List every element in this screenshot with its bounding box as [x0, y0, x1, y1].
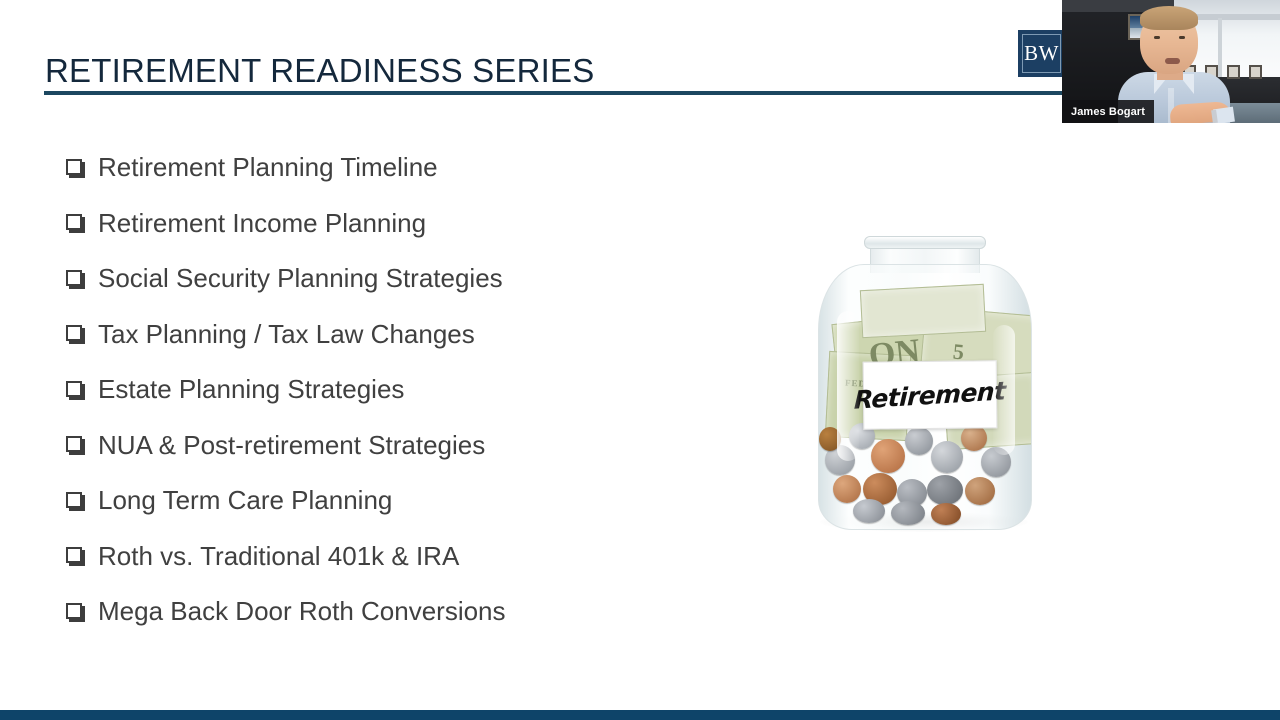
checkbox-icon [66, 547, 85, 566]
list-item: NUA & Post-retirement Strategies [66, 418, 766, 474]
jar-contents: ON 5 FEDERAL U.S. [819, 265, 1031, 529]
page-title: RETIREMENT READINESS SERIES [45, 52, 594, 90]
retirement-money-jar-image: ON 5 FEDERAL U.S. [812, 236, 1036, 528]
presenter-hair [1140, 6, 1198, 30]
desk-picture-frame [1249, 65, 1262, 79]
topics-list: Retirement Planning Timeline Retirement … [66, 140, 766, 640]
checkbox-icon [66, 325, 85, 344]
jar-label-text: Retirement [854, 376, 1006, 415]
participant-name-label: James Bogart [1071, 106, 1145, 118]
jar-body: ON 5 FEDERAL U.S. [818, 264, 1032, 530]
footer-accent-bar [0, 710, 1280, 720]
list-item-label: Retirement Income Planning [98, 209, 426, 238]
checkbox-icon [66, 492, 85, 511]
checkbox-icon [66, 159, 85, 178]
list-item: Long Term Care Planning [66, 473, 766, 529]
desk-picture-frame [1227, 65, 1240, 79]
list-item: Tax Planning / Tax Law Changes [66, 307, 766, 363]
checkbox-icon [66, 436, 85, 455]
list-item: Mega Back Door Roth Conversions [66, 584, 766, 640]
jar-lip [864, 236, 986, 249]
presenter-eye-left [1154, 36, 1160, 39]
list-item-label: Long Term Care Planning [98, 486, 392, 515]
checkbox-icon [66, 381, 85, 400]
list-item-label: Tax Planning / Tax Law Changes [98, 320, 475, 349]
title-underline-rule [44, 91, 1062, 95]
list-item-label: Mega Back Door Roth Conversions [98, 597, 506, 626]
bw-logo: BW [1018, 30, 1065, 77]
list-item: Roth vs. Traditional 401k & IRA [66, 529, 766, 585]
webcam-video-overlay[interactable]: James Bogart [1062, 0, 1280, 123]
checkbox-icon [66, 270, 85, 289]
list-item: Retirement Income Planning [66, 196, 766, 252]
participant-name-tag: James Bogart [1062, 100, 1154, 123]
presentation-slide: RETIREMENT READINESS SERIES Retirement P… [0, 0, 1280, 720]
list-item-label: Social Security Planning Strategies [98, 264, 503, 293]
presenter-mouth [1165, 58, 1180, 64]
list-item-label: Estate Planning Strategies [98, 375, 404, 404]
checkbox-icon [66, 214, 85, 233]
list-item: Social Security Planning Strategies [66, 251, 766, 307]
list-item-label: Roth vs. Traditional 401k & IRA [98, 542, 459, 571]
list-item-label: NUA & Post-retirement Strategies [98, 431, 485, 460]
list-item: Estate Planning Strategies [66, 362, 766, 418]
bw-logo-text: BW [1024, 41, 1059, 66]
presenter-eye-right [1179, 36, 1185, 39]
jar-label-card: Retirement [863, 360, 998, 429]
checkbox-icon [66, 603, 85, 622]
list-item-label: Retirement Planning Timeline [98, 153, 438, 182]
list-item: Retirement Planning Timeline [66, 140, 766, 196]
